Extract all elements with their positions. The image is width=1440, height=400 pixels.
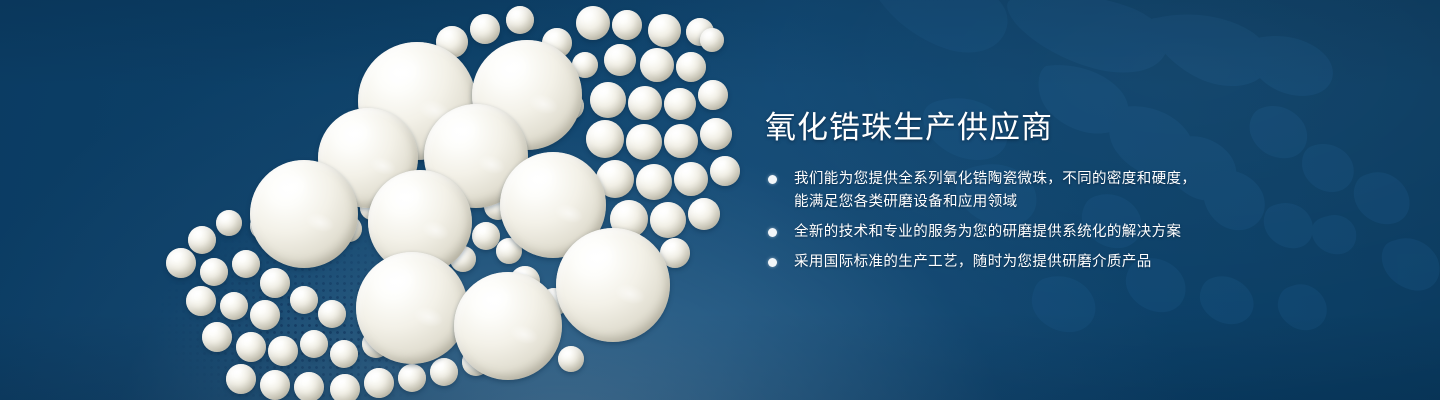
list-item: 采用国际标准的生产工艺，随时为您提供研磨介质产品 — [768, 251, 1196, 274]
banner-copy-block: 氧化锆珠生产供应商 我们能为您提供全系列氧化锆陶瓷微珠，不同的密度和硬度， 能满… — [765, 0, 1385, 400]
bullet-dot-icon — [768, 228, 777, 237]
list-item: 全新的技术和专业的服务为您的研磨提供系统化的解决方案 — [768, 221, 1196, 244]
hero-banner: 氧化锆珠生产供应商 我们能为您提供全系列氧化锆陶瓷微珠，不同的密度和硬度， 能满… — [0, 0, 1440, 400]
bullet-text-line: 我们能为您提供全系列氧化锆陶瓷微珠，不同的密度和硬度， — [794, 168, 1196, 191]
bullet-text-line: 能满足您各类研磨设备和应用领域 — [794, 191, 1196, 214]
bullet-dot-icon — [768, 175, 777, 184]
feature-bullet-list: 我们能为您提供全系列氧化锆陶瓷微珠，不同的密度和硬度， 能满足您各类研磨设备和应… — [768, 168, 1196, 274]
bullet-text-line: 采用国际标准的生产工艺，随时为您提供研磨介质产品 — [794, 251, 1196, 274]
page-title: 氧化锆珠生产供应商 — [765, 108, 1053, 148]
bullet-text-line: 全新的技术和专业的服务为您的研磨提供系统化的解决方案 — [794, 221, 1196, 244]
list-item: 我们能为您提供全系列氧化锆陶瓷微珠，不同的密度和硬度， 能满足您各类研磨设备和应… — [768, 168, 1196, 214]
bullet-dot-icon — [768, 258, 777, 267]
